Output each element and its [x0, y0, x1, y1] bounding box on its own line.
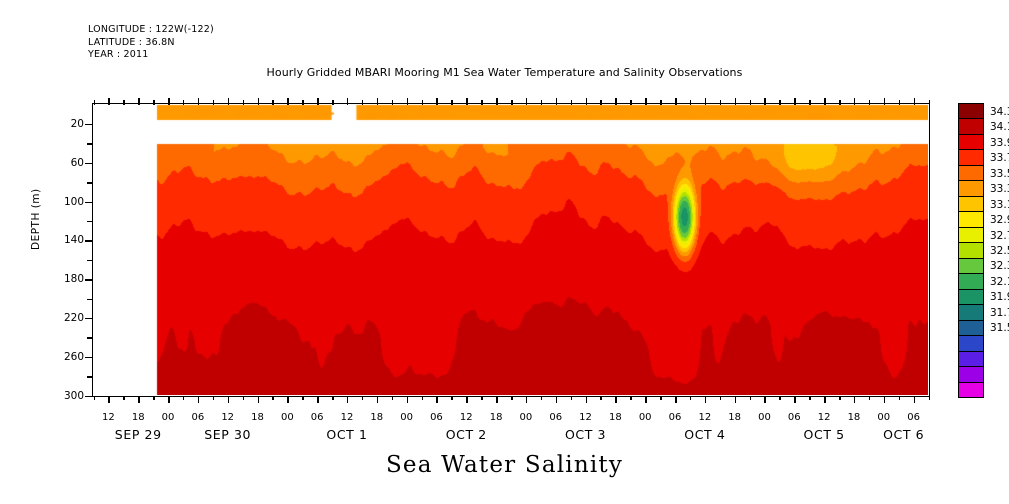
colorbar-label: 31.5	[990, 322, 1009, 334]
x-top-tick	[138, 98, 140, 105]
colorbar-label: 33.7	[990, 152, 1009, 164]
colorbar-cell	[958, 134, 984, 150]
colorbar-cell	[958, 196, 984, 212]
colorbar-cell	[958, 351, 984, 367]
x-top-tick	[168, 98, 170, 105]
x-top-tick	[407, 98, 409, 105]
year-text: YEAR : 2011	[88, 49, 214, 62]
x-top-tick	[392, 100, 394, 105]
x-major-tick	[466, 396, 468, 403]
x-hour-label: 12	[460, 412, 473, 423]
x-major-tick	[556, 396, 558, 403]
x-top-tick	[571, 100, 573, 105]
x-major-tick	[228, 396, 230, 403]
y-major-tick	[85, 202, 92, 204]
y-tick-label: 180	[40, 273, 84, 285]
x-major-tick	[258, 396, 260, 403]
x-top-tick	[854, 98, 856, 105]
y-tick-label: 140	[40, 234, 84, 246]
x-major-tick	[526, 396, 528, 403]
y-major-tick	[85, 318, 92, 320]
y-major-tick	[85, 279, 92, 281]
x-major-tick	[675, 396, 677, 403]
colorbar-cell	[958, 180, 984, 196]
x-hour-label: 12	[102, 412, 115, 423]
x-top-tick	[824, 98, 826, 105]
x-top-tick	[794, 98, 796, 105]
colorbar-cell	[958, 227, 984, 243]
colorbar-label: 33.3	[990, 183, 1009, 195]
colorbar-cell	[958, 211, 984, 227]
y-tick-label: 220	[40, 312, 84, 324]
colorbar-label: 33.5	[990, 168, 1009, 180]
x-major-tick	[645, 396, 647, 403]
x-minor-tick	[660, 396, 662, 401]
x-day-label: OCT 1	[326, 427, 367, 442]
x-hour-label: 06	[788, 412, 801, 423]
x-top-tick	[511, 100, 513, 105]
x-hour-label: 06	[907, 412, 920, 423]
x-major-tick	[496, 396, 498, 403]
x-top-tick	[228, 98, 230, 105]
x-hour-label: 18	[490, 412, 503, 423]
colorbar-label: 31.7	[990, 307, 1009, 319]
colorbar-label: 32.9	[990, 214, 1009, 226]
contour-plot-area	[92, 103, 930, 397]
x-top-tick	[750, 100, 752, 105]
x-day-label: OCT 2	[446, 427, 487, 442]
x-top-tick	[272, 100, 274, 105]
x-hour-label: 06	[311, 412, 324, 423]
x-top-tick	[287, 98, 289, 105]
y-axis-title: DEPTH (m)	[30, 188, 42, 250]
x-top-tick	[347, 98, 349, 105]
x-hour-label: 00	[520, 412, 533, 423]
x-top-tick	[615, 98, 617, 105]
chart-title: Hourly Gridded MBARI Mooring M1 Sea Wate…	[0, 66, 1009, 79]
x-top-tick	[213, 100, 215, 105]
y-major-tick	[85, 396, 92, 398]
x-major-tick	[884, 396, 886, 403]
x-top-tick	[377, 98, 379, 105]
x-hour-label: 00	[400, 412, 413, 423]
x-hour-label: 12	[818, 412, 831, 423]
x-top-tick	[466, 98, 468, 105]
x-minor-tick	[511, 396, 513, 401]
x-top-tick	[496, 98, 498, 105]
x-hour-label: 06	[669, 412, 682, 423]
x-top-tick	[526, 98, 528, 105]
x-minor-tick	[422, 396, 424, 401]
x-top-tick	[586, 98, 588, 105]
x-top-tick	[645, 98, 647, 105]
x-minor-tick	[690, 396, 692, 401]
x-top-tick	[809, 100, 811, 105]
x-minor-tick	[183, 396, 185, 401]
x-top-tick	[302, 100, 304, 105]
x-top-tick	[481, 100, 483, 105]
x-day-label: SEP 29	[115, 427, 162, 442]
x-top-tick	[735, 98, 737, 105]
y-major-tick	[85, 240, 92, 242]
colorbar-cell	[958, 242, 984, 258]
colorbar-label: 32.5	[990, 245, 1009, 257]
x-minor-tick	[630, 396, 632, 401]
x-minor-tick	[302, 396, 304, 401]
x-major-tick	[764, 396, 766, 403]
x-hour-label: 18	[132, 412, 145, 423]
colorbar-cell	[958, 149, 984, 165]
colorbar-cell	[958, 273, 984, 289]
x-minor-tick	[869, 396, 871, 401]
x-top-tick	[362, 100, 364, 105]
x-top-tick	[869, 100, 871, 105]
colorbar-cell	[958, 258, 984, 274]
x-top-tick	[94, 100, 96, 105]
colorbar-cell	[958, 118, 984, 134]
x-minor-tick	[541, 396, 543, 401]
y-tick-label: 260	[40, 351, 84, 363]
x-hour-label: 00	[281, 412, 294, 423]
x-hour-label: 12	[221, 412, 234, 423]
x-top-tick	[929, 100, 931, 105]
colorbar-label: 32.1	[990, 276, 1009, 288]
x-minor-tick	[600, 396, 602, 401]
x-minor-tick	[571, 396, 573, 401]
x-top-tick	[198, 98, 200, 105]
longitude-text: LONGITUDE : 122W(-122)	[88, 24, 214, 37]
x-minor-tick	[362, 396, 364, 401]
x-hour-label: 12	[341, 412, 354, 423]
x-top-tick	[705, 98, 707, 105]
colorbar	[958, 103, 984, 397]
x-top-tick	[690, 100, 692, 105]
x-major-tick	[168, 396, 170, 403]
x-minor-tick	[153, 396, 155, 401]
colorbar-cell	[958, 103, 984, 119]
x-hour-label: 12	[698, 412, 711, 423]
x-top-tick	[884, 98, 886, 105]
y-minor-tick	[87, 260, 92, 262]
y-major-tick	[85, 357, 92, 359]
x-top-tick	[123, 100, 125, 105]
y-minor-tick	[87, 182, 92, 184]
y-tick-label: 60	[40, 157, 84, 169]
y-minor-tick	[87, 337, 92, 339]
x-major-tick	[705, 396, 707, 403]
y-tick-label: 100	[40, 196, 84, 208]
x-hour-label: 18	[609, 412, 622, 423]
x-major-tick	[436, 396, 438, 403]
x-day-label: OCT 3	[565, 427, 606, 442]
x-top-tick	[436, 98, 438, 105]
x-hour-label: 00	[758, 412, 771, 423]
x-major-tick	[377, 396, 379, 403]
x-top-tick	[556, 98, 558, 105]
x-hour-label: 18	[728, 412, 741, 423]
x-minor-tick	[392, 396, 394, 401]
x-minor-tick	[94, 396, 96, 401]
x-minor-tick	[451, 396, 453, 401]
x-top-tick	[258, 98, 260, 105]
x-minor-tick	[929, 396, 931, 401]
x-top-tick	[839, 100, 841, 105]
x-top-tick	[541, 100, 543, 105]
colorbar-cell	[958, 382, 984, 398]
colorbar-cell	[958, 335, 984, 351]
y-major-tick	[85, 124, 92, 126]
x-minor-tick	[809, 396, 811, 401]
x-top-tick	[451, 100, 453, 105]
x-hour-label: 06	[192, 412, 205, 423]
x-minor-tick	[213, 396, 215, 401]
x-minor-tick	[750, 396, 752, 401]
x-minor-tick	[779, 396, 781, 401]
x-top-tick	[630, 100, 632, 105]
y-tick-label: 20	[40, 118, 84, 130]
x-major-tick	[198, 396, 200, 403]
x-minor-tick	[272, 396, 274, 401]
x-hour-label: 18	[848, 412, 861, 423]
colorbar-label: 32.3	[990, 260, 1009, 272]
y-major-tick	[85, 163, 92, 165]
y-minor-tick	[87, 143, 92, 145]
y-minor-tick	[87, 221, 92, 223]
x-minor-tick	[899, 396, 901, 401]
x-major-tick	[914, 396, 916, 403]
x-major-tick	[407, 396, 409, 403]
x-major-tick	[615, 396, 617, 403]
colorbar-cell	[958, 304, 984, 320]
x-hour-label: 00	[639, 412, 652, 423]
x-day-label: OCT 6	[883, 427, 924, 442]
x-major-tick	[108, 396, 110, 403]
x-top-tick	[153, 100, 155, 105]
x-top-tick	[183, 100, 185, 105]
colorbar-cell	[958, 165, 984, 181]
colorbar-label: 34.1	[990, 121, 1009, 133]
x-major-tick	[794, 396, 796, 403]
x-major-tick	[586, 396, 588, 403]
colorbar-label: 32.7	[990, 230, 1009, 242]
x-top-tick	[243, 100, 245, 105]
latitude-text: LATITUDE : 36.8N	[88, 37, 214, 50]
colorbar-label: 31.9	[990, 291, 1009, 303]
x-hour-label: 00	[162, 412, 175, 423]
x-major-tick	[735, 396, 737, 403]
x-day-label: SEP 30	[204, 427, 251, 442]
x-minor-tick	[332, 396, 334, 401]
x-minor-tick	[720, 396, 722, 401]
x-top-tick	[332, 100, 334, 105]
x-minor-tick	[481, 396, 483, 401]
x-major-tick	[317, 396, 319, 403]
x-major-tick	[854, 396, 856, 403]
x-major-tick	[347, 396, 349, 403]
x-top-tick	[600, 100, 602, 105]
x-top-tick	[779, 100, 781, 105]
colorbar-cell	[958, 366, 984, 382]
y-minor-tick	[87, 376, 92, 378]
x-hour-label: 18	[370, 412, 383, 423]
station-metadata: LONGITUDE : 122W(-122) LATITUDE : 36.8N …	[88, 24, 214, 62]
x-hour-label: 12	[579, 412, 592, 423]
x-day-label: OCT 5	[804, 427, 845, 442]
x-top-tick	[660, 100, 662, 105]
x-major-tick	[287, 396, 289, 403]
x-minor-tick	[839, 396, 841, 401]
salinity-field-canvas	[93, 104, 928, 395]
x-major-tick	[824, 396, 826, 403]
colorbar-cell	[958, 289, 984, 305]
x-top-tick	[899, 100, 901, 105]
x-top-tick	[108, 98, 110, 105]
colorbar-label: 34.3	[990, 106, 1009, 118]
x-hour-label: 18	[251, 412, 264, 423]
y-tick-label: 300	[40, 390, 84, 402]
colorbar-cell	[958, 320, 984, 336]
x-minor-tick	[243, 396, 245, 401]
x-minor-tick	[123, 396, 125, 401]
x-hour-label: 00	[877, 412, 890, 423]
colorbar-label: 33.1	[990, 199, 1009, 211]
x-top-tick	[720, 100, 722, 105]
x-major-tick	[138, 396, 140, 403]
x-top-tick	[764, 98, 766, 105]
x-hour-label: 06	[430, 412, 443, 423]
x-hour-label: 06	[549, 412, 562, 423]
x-top-tick	[317, 98, 319, 105]
x-top-tick	[914, 98, 916, 105]
variable-title: Sea Water Salinity	[0, 452, 1009, 478]
x-top-tick	[675, 98, 677, 105]
x-top-tick	[422, 100, 424, 105]
x-day-label: OCT 4	[684, 427, 725, 442]
y-minor-tick	[87, 299, 92, 301]
colorbar-label: 33.9	[990, 137, 1009, 149]
